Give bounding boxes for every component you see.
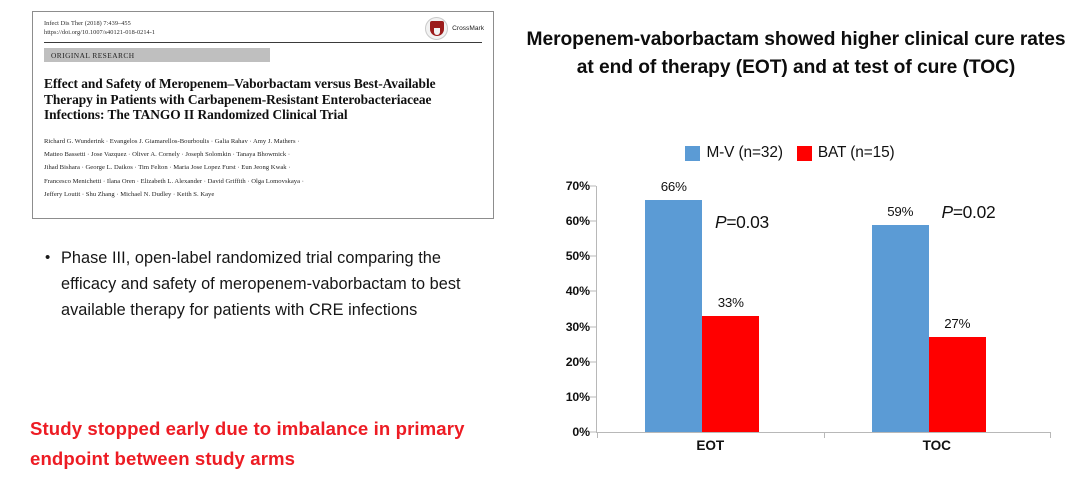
chart-title: Meropenem-vaborbactam showed higher clin…: [524, 26, 1068, 83]
y-axis-tick-mark: [590, 361, 596, 362]
y-axis-tick-mark: [590, 396, 596, 397]
journal-article-thumbnail: CrossMark Infect Dis Ther (2018) 7:439–4…: [32, 11, 494, 219]
y-axis-tick-label: 10%: [566, 390, 590, 404]
legend-entry-mv: M-V (n=32): [685, 144, 782, 162]
chart-legend: M-V (n=32) BAT (n=15): [510, 144, 1070, 162]
article-author-line: Matteo Bassetti · Jose Vazquez · Oliver …: [44, 148, 482, 161]
bar-value-label: 33%: [696, 295, 766, 310]
article-author-list: Richard G. Wunderink · Evangelos J. Giam…: [44, 135, 482, 201]
y-axis-tick-mark: [590, 326, 596, 327]
legend-swatch-bat: [797, 146, 812, 161]
study-description-bullet: • Phase III, open-label randomized trial…: [45, 245, 495, 324]
legend-swatch-mv: [685, 146, 700, 161]
x-axis-category-label: TOC: [867, 438, 1007, 453]
crossmark-label: CrossMark: [452, 25, 484, 32]
crossmark-icon: [425, 17, 448, 40]
article-author-line: Jeffery Loutit · Shu Zhang · Michael N. …: [44, 188, 482, 201]
p-value-annotation: P=0.02: [942, 202, 996, 223]
bar-value-label: 59%: [865, 204, 935, 219]
y-axis-tick-label: 30%: [566, 320, 590, 334]
x-axis-end-tick: [597, 432, 598, 438]
bar-value-label: 66%: [639, 179, 709, 194]
crossmark-icon-glyph: [430, 21, 444, 36]
article-section-band: ORIGINAL RESEARCH: [44, 48, 270, 62]
slide-canvas: CrossMark Infect Dis Ther (2018) 7:439–4…: [0, 0, 1080, 486]
crossmark-badge: CrossMark: [425, 17, 484, 40]
y-axis-tick-mark: [590, 186, 596, 187]
article-author-line: Richard G. Wunderink · Evangelos J. Giam…: [44, 135, 482, 148]
y-axis-tick-label: 20%: [566, 355, 590, 369]
y-axis-tick-mark: [590, 221, 596, 222]
p-value-annotation: P=0.03: [715, 212, 769, 233]
bullet-row: • Phase III, open-label randomized trial…: [45, 245, 495, 324]
bar-toc-bat: [929, 337, 986, 432]
article-doi-line: https://doi.org/10.1007/s40121-018-0214-…: [44, 28, 482, 37]
y-axis-tick-label: 50%: [566, 249, 590, 263]
bullet-text: Phase III, open-label randomized trial c…: [61, 245, 495, 324]
bar-toc-mv: [872, 225, 929, 432]
bar-eot-mv: [645, 200, 702, 432]
article-title: Effect and Safety of Meropenem–Vaborbact…: [44, 76, 482, 122]
bar-chart-plot: 0%10%20%30%40%50%60%70% 66%33%EOTP=0.035…: [550, 186, 1062, 458]
x-axis-end-tick: [1050, 432, 1051, 438]
y-axis-tick-mark: [590, 256, 596, 257]
legend-label-mv: M-V (n=32): [706, 144, 782, 162]
x-axis-separator-tick: [824, 432, 825, 438]
bars-area: 66%33%EOTP=0.0359%27%TOCP=0.02: [597, 186, 1050, 432]
y-axis-tick-labels: 0%10%20%30%40%50%60%70%: [550, 186, 596, 432]
article-author-line: Jihad Bishara · George L. Daikos · Tim F…: [44, 161, 482, 174]
bar-value-label: 27%: [922, 316, 992, 331]
bar-eot-bat: [702, 316, 759, 432]
left-content-column: CrossMark Infect Dis Ther (2018) 7:439–4…: [0, 0, 510, 486]
y-axis-tick-label: 40%: [566, 284, 590, 298]
y-axis-tick-mark: [590, 432, 596, 433]
y-axis-tick-label: 0%: [572, 425, 590, 439]
y-axis-tick-label: 60%: [566, 214, 590, 228]
bullet-marker-icon: •: [45, 245, 61, 271]
y-axis-tick-label: 70%: [566, 179, 590, 193]
legend-label-bat: BAT (n=15): [818, 144, 895, 162]
study-stopped-early-note: Study stopped early due to imbalance in …: [30, 414, 500, 474]
legend-entry-bat: BAT (n=15): [797, 144, 895, 162]
article-section-label: ORIGINAL RESEARCH: [44, 51, 135, 60]
article-author-line: Francesco Menichetti · Ilana Oren · Eliz…: [44, 175, 482, 188]
article-citation-line: Infect Dis Ther (2018) 7:439–455: [44, 19, 482, 28]
x-axis-category-label: EOT: [640, 438, 780, 453]
chart-column: Meropenem-vaborbactam showed higher clin…: [510, 0, 1080, 486]
article-divider: [44, 42, 482, 43]
y-axis-tick-mark: [590, 291, 596, 292]
article-inner: CrossMark Infect Dis Ther (2018) 7:439–4…: [33, 12, 493, 218]
